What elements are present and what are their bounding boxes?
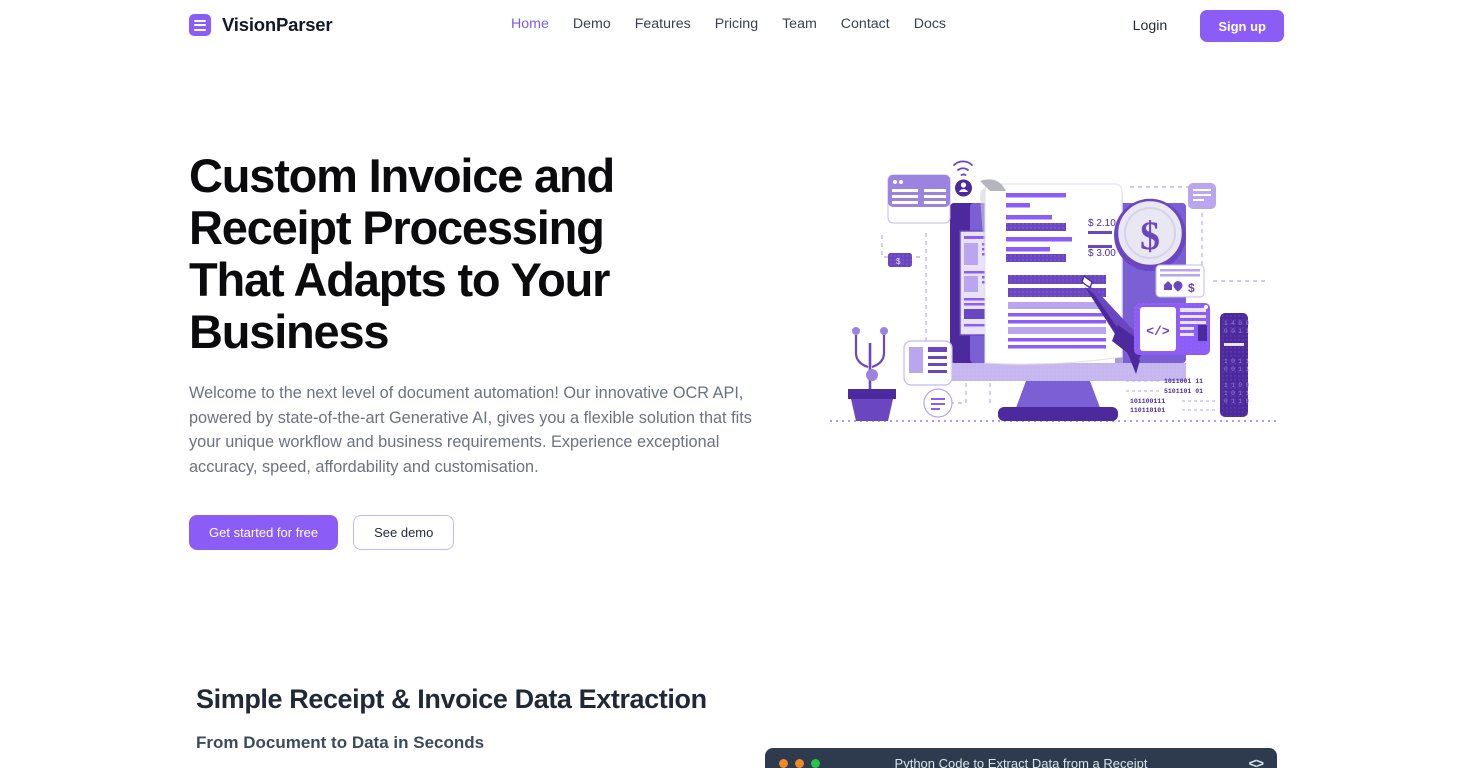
svg-text:1 0 1 1: 1 0 1 1 xyxy=(1224,358,1250,365)
svg-text:1 1 0 0: 1 1 0 0 xyxy=(1224,382,1250,389)
landing-page: VisionParser Home Demo Features Pricing … xyxy=(0,0,1473,768)
code-panel-title: Python Code to Extract Data from a Recei… xyxy=(765,756,1277,768)
nav-item-features[interactable]: Features xyxy=(635,16,715,32)
svg-text:0 0 1 1: 0 0 1 1 xyxy=(1224,328,1250,335)
nav-item-home[interactable]: Home xyxy=(511,16,573,32)
section-heading: Simple Receipt & Invoice Data Extraction xyxy=(196,684,707,715)
brand-logo[interactable]: VisionParser xyxy=(189,14,332,36)
hero-paragraph: Welcome to the next level of document au… xyxy=(189,381,779,479)
code-panel: Python Code to Extract Data from a Recei… xyxy=(765,748,1277,768)
coin-dollar-symbol: $ xyxy=(1140,213,1160,258)
svg-text:$: $ xyxy=(896,257,901,266)
hero-section: Custom Invoice and Receipt Processing Th… xyxy=(189,150,789,550)
document-lines-icon xyxy=(189,14,211,36)
nav-item-team[interactable]: Team xyxy=(782,16,841,32)
price-label-2: $ 3.00 xyxy=(1088,248,1116,259)
invoice-ocr-illustration: $ 2.10 $ 3.00 xyxy=(830,135,1276,423)
binary-line-2: 5101101 01 xyxy=(1164,388,1203,395)
brand-name: VisionParser xyxy=(222,14,332,36)
price-label-1: $ 2.10 xyxy=(1088,218,1116,229)
code-panel-titlebar: Python Code to Extract Data from a Recei… xyxy=(765,748,1277,768)
nav-item-contact[interactable]: Contact xyxy=(841,16,914,32)
hero-cta-group: Get started for free See demo xyxy=(189,515,789,550)
nav-item-pricing[interactable]: Pricing xyxy=(715,16,782,32)
nav-item-demo[interactable]: Demo xyxy=(573,16,635,32)
binary-line-4: 110110101 xyxy=(1130,407,1165,414)
binary-line-1: 1011001 11 xyxy=(1164,378,1203,385)
get-started-button[interactable]: Get started for free xyxy=(189,515,338,550)
svg-text:1 4 0 0: 1 4 0 0 xyxy=(1224,320,1250,327)
svg-text:0 0 1 1: 0 0 1 1 xyxy=(1224,366,1250,373)
site-header: VisionParser Home Demo Features Pricing … xyxy=(0,0,1473,52)
svg-text:1 0 1 1: 1 0 1 1 xyxy=(1224,390,1250,397)
login-link[interactable]: Login xyxy=(1133,18,1168,34)
svg-text:$: $ xyxy=(1188,281,1195,295)
code-brackets-icon[interactable]: <> xyxy=(1249,755,1263,768)
code-glyph: </> xyxy=(1146,324,1170,339)
hero-title: Custom Invoice and Receipt Processing Th… xyxy=(189,150,679,358)
primary-nav: Home Demo Features Pricing Team Contact … xyxy=(511,16,946,32)
section-subheading: From Document to Data in Seconds xyxy=(196,733,484,753)
binary-line-3: 101100111 xyxy=(1130,398,1165,405)
auth-actions: Login Sign up xyxy=(1133,10,1284,42)
nav-item-docs[interactable]: Docs xyxy=(914,16,946,32)
svg-text:0 1 1 0: 0 1 1 0 xyxy=(1224,398,1250,405)
signup-button[interactable]: Sign up xyxy=(1200,10,1284,42)
see-demo-button[interactable]: See demo xyxy=(353,515,454,550)
